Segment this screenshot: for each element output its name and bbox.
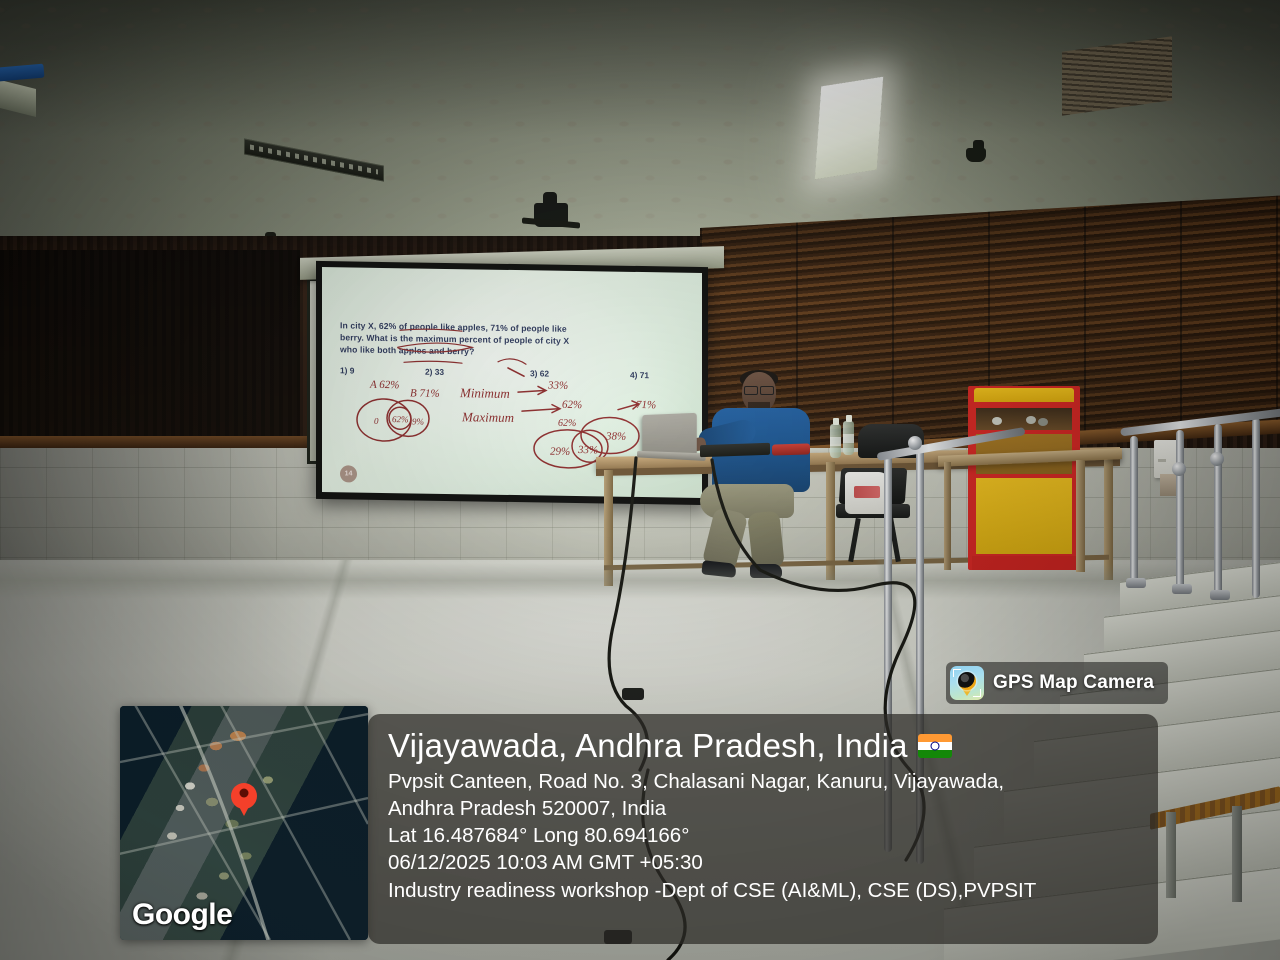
camera-lens-icon <box>958 672 976 690</box>
cabinet-shelf <box>976 408 1072 430</box>
caption-note: Industry readiness workshop -Dept of CSE… <box>388 877 1138 904</box>
ink-venn-mid: 62% <box>392 414 408 424</box>
ceiling-projector <box>534 203 568 227</box>
screenshot-canvas: In city X, 62% of people like apples, 71… <box>0 0 1280 960</box>
india-flag-icon <box>918 734 952 758</box>
ink-arrow-71: 71% <box>636 399 656 411</box>
gps-map-camera-label: GPS Map Camera <box>993 672 1154 694</box>
ink-venn-right: 9% <box>412 416 424 426</box>
location-title-row: Vijayawada, Andhra Pradesh, India <box>388 728 1138 764</box>
timestamp: 06/12/2025 10:03 AM GMT +05:30 <box>388 849 1138 876</box>
ink-min-value: 33% <box>547 380 568 392</box>
gps-map-camera-badge: GPS Map Camera <box>946 662 1168 704</box>
ink-minimum: Minimum <box>459 385 510 401</box>
location-pin-marker <box>231 783 257 809</box>
ink-label-b: B 71% <box>410 387 440 399</box>
map-thumbnail[interactable]: Google <box>120 706 368 940</box>
ceiling-light-panel <box>815 77 883 180</box>
address-line-2: Andhra Pradesh 520007, India <box>388 795 1138 822</box>
ink-venn-left: 0 <box>374 416 379 426</box>
google-watermark: Google <box>132 898 232 932</box>
gps-map-camera-icon <box>950 666 984 700</box>
cable-connector <box>622 688 644 700</box>
pin-center-dot <box>240 788 249 797</box>
ink-label-a: A 62% <box>369 379 399 391</box>
bracket-icon <box>973 689 981 697</box>
geotag-info-panel: Vijayawada, Andhra Pradesh, India Pvpsit… <box>368 714 1158 944</box>
ceiling-speaker <box>966 148 986 162</box>
ink-max-value: 62% <box>562 399 582 411</box>
left-wall-wood-panelling <box>0 250 300 450</box>
eyeglasses-icon <box>744 386 774 393</box>
coordinates: Lat 16.487684° Long 80.694166° <box>388 822 1138 849</box>
ink-maximum: Maximum <box>461 409 514 425</box>
address-line-1: Pvpsit Canteen, Road No. 3, Chalasani Na… <box>388 768 1138 795</box>
ink-value-62: 62% <box>558 418 576 429</box>
cabinet-top <box>974 388 1074 402</box>
location-title: Vijayawada, Andhra Pradesh, India <box>388 728 908 764</box>
